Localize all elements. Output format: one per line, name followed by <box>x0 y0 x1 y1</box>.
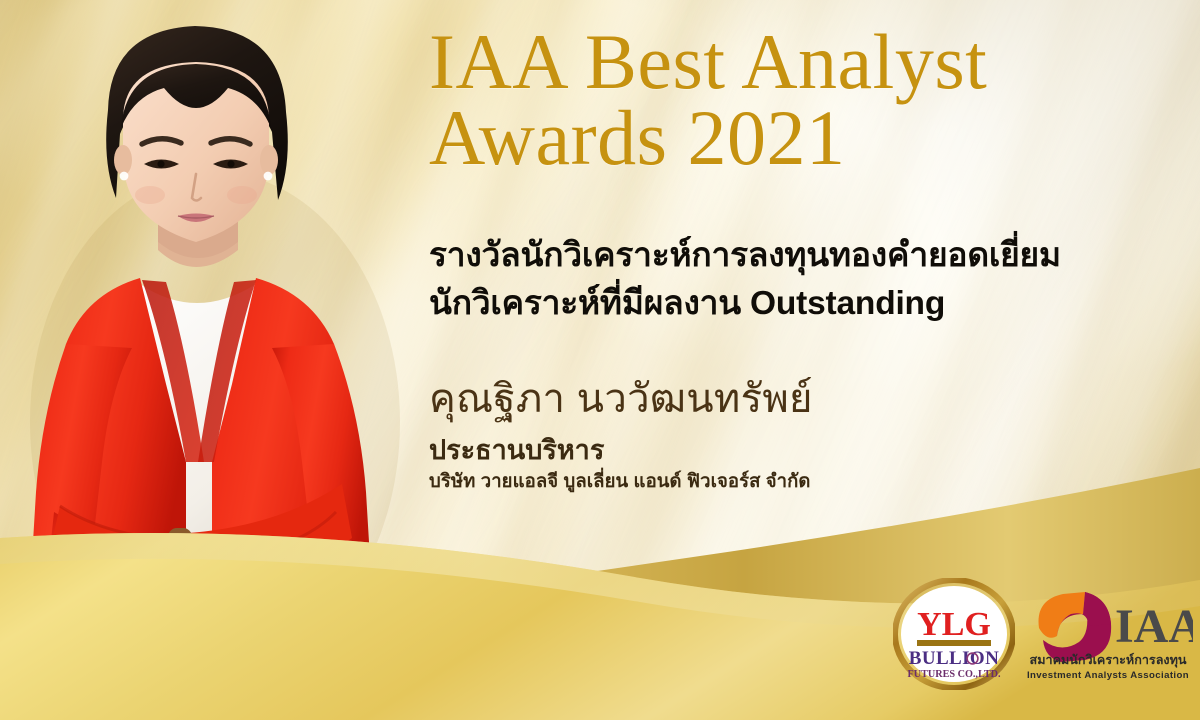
ylg-wordmark: YLG <box>917 606 991 643</box>
iaa-logo: IAA สมาคมนักวิเคราะห์การลงทุน Investment… <box>1023 584 1193 684</box>
iaa-english-name: Investment Analysts Association <box>1027 670 1189 681</box>
ylg-divider-bar <box>917 640 991 646</box>
page-title: IAA Best Analyst Awards 2021 <box>429 24 987 177</box>
award-subtitle: รางวัลนักวิเคราะห์การลงทุนทองคำยอดเยี่ยม… <box>429 232 1061 327</box>
awardee-name: คุณฐิภา นววัฒนทรัพย์ <box>429 366 813 430</box>
awardee-role: ประธานบริหาร <box>429 428 604 471</box>
ylg-bullion-logo: YLG BULLION FUTURES CO.,LTD. <box>893 578 1015 690</box>
awardee-company: บริษัท วายแอลจี บูลเลี่ยน แอนด์ ฟิวเจอร์… <box>429 467 811 496</box>
award-poster: IAA Best Analyst Awards 2021 รางวัลนักวิ… <box>0 0 1200 720</box>
iaa-wordmark: IAA <box>1115 600 1193 653</box>
gold-swoosh-decoration <box>0 460 1200 720</box>
ylg-futures-text: FUTURES CO.,LTD. <box>907 669 1000 680</box>
iaa-thai-name: สมาคมนักวิเคราะห์การลงทุน <box>1030 652 1187 668</box>
ylg-bullion-text: BULLION <box>909 648 999 669</box>
iaa-swirl-icon <box>1039 592 1112 662</box>
